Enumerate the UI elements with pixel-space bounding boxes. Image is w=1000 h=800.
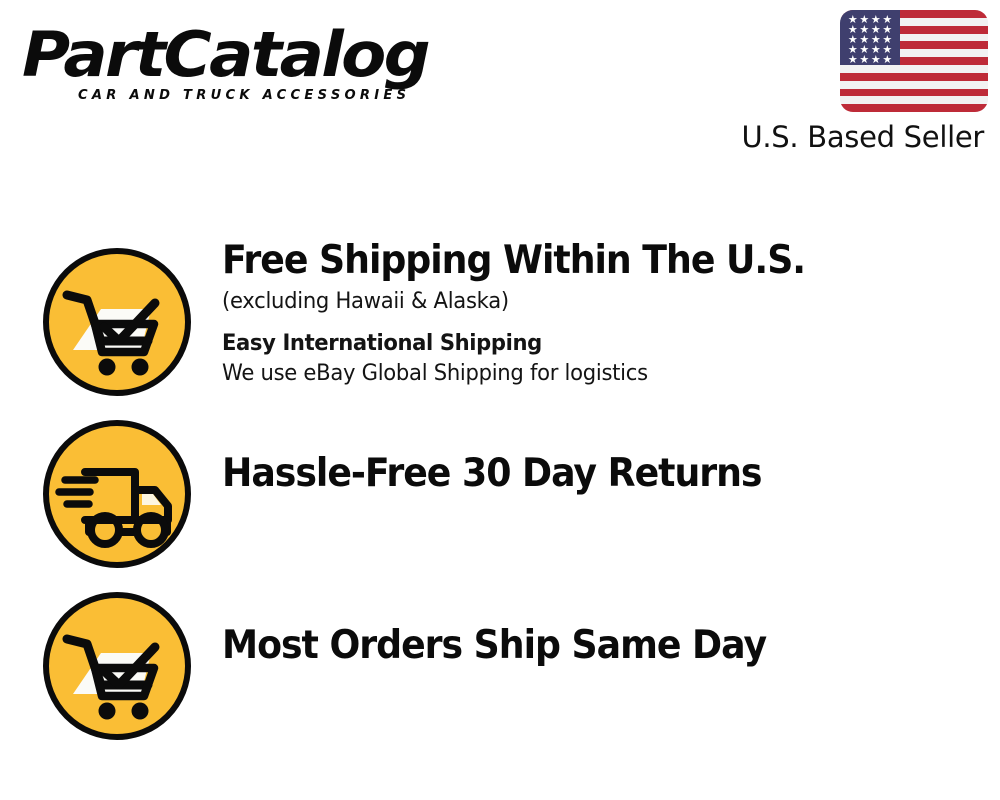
feature-title: Free Shipping Within The U.S. (222, 238, 929, 284)
feature-copy: Most Orders Ship Same Day (222, 623, 982, 669)
shopping-cart-check-icon (43, 248, 191, 396)
cart-check-glyph (43, 592, 191, 740)
feature-row: Hassle-Free 30 Day Returns (0, 402, 1000, 574)
feature-title: Hassle-Free 30 Day Returns (222, 451, 929, 497)
feature-note: (excluding Hawaii & Alaska) (222, 287, 952, 317)
us-flag-icon: ★★★★ ★★★★ ★★★★ ★★★★ ★★★★ (840, 10, 988, 112)
feature-list: Free Shipping Within The U.S. (excluding… (0, 230, 1000, 746)
shopping-cart-check-icon (43, 592, 191, 740)
feature-detail: We use eBay Global Shipping for logistic… (222, 359, 952, 389)
page-header: PartCatalog CAR AND TRUCK ACCESSORIES ★★… (0, 0, 1000, 170)
delivery-truck-glyph (43, 420, 191, 568)
us-based-seller-label: U.S. Based Seller (718, 120, 984, 154)
feature-title: Most Orders Ship Same Day (222, 623, 929, 669)
delivery-truck-icon (43, 420, 191, 568)
us-based-seller-badge: ★★★★ ★★★★ ★★★★ ★★★★ ★★★★ U.S. Based Sell… (718, 10, 988, 154)
brand-logo[interactable]: PartCatalog CAR AND TRUCK ACCESSORIES (22, 24, 492, 103)
cart-check-glyph (43, 248, 191, 396)
feature-row: Most Orders Ship Same Day (0, 574, 1000, 746)
brand-wordmark: PartCatalog (22, 24, 520, 86)
feature-copy: Free Shipping Within The U.S. (excluding… (222, 238, 982, 389)
feature-row: Free Shipping Within The U.S. (excluding… (0, 230, 1000, 402)
brand-tagline: CAR AND TRUCK ACCESSORIES (78, 87, 480, 103)
feature-copy: Hassle-Free 30 Day Returns (222, 451, 982, 497)
feature-subheading: Easy International Shipping (222, 329, 952, 359)
